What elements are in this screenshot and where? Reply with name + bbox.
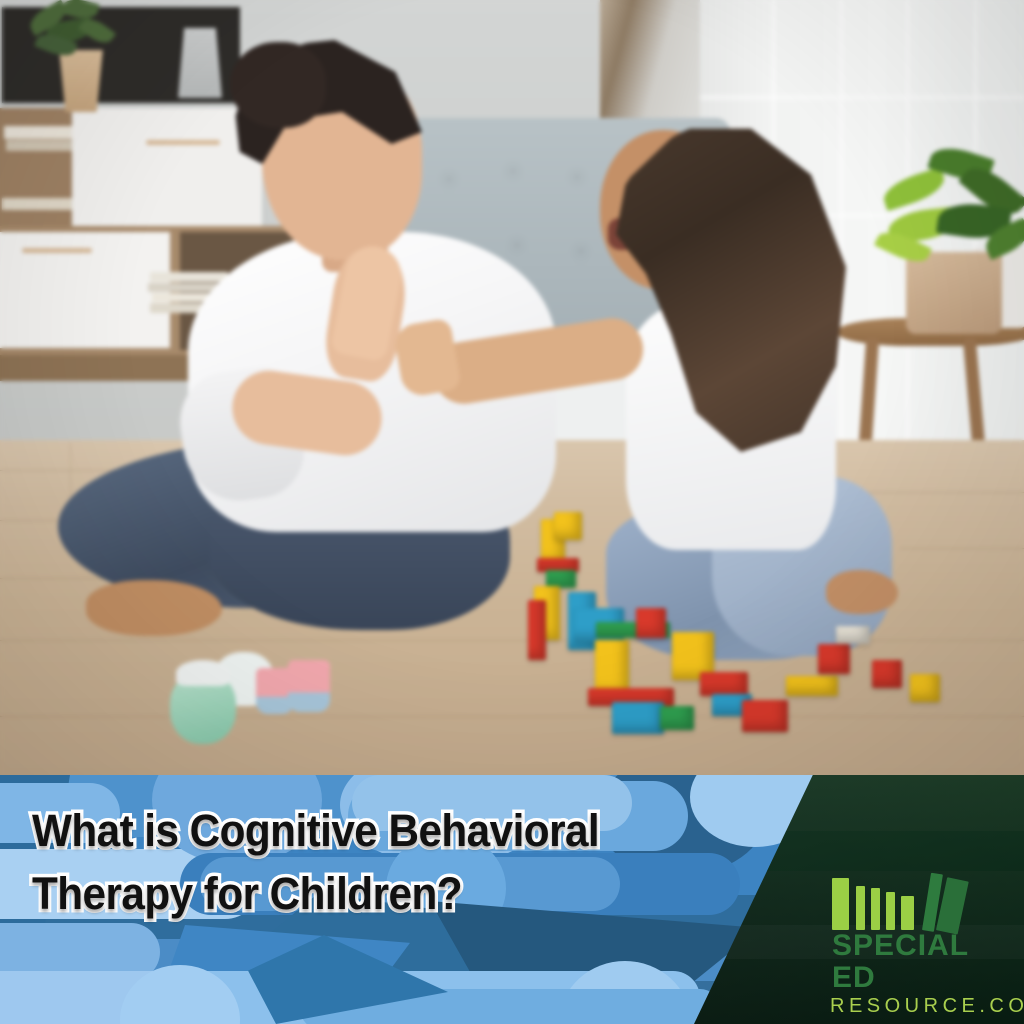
toy-block <box>872 660 902 688</box>
decorative-vase <box>178 28 222 98</box>
shelf-handle <box>22 248 92 253</box>
toy-block <box>528 600 546 660</box>
toy-block <box>700 672 748 696</box>
toy-block <box>786 676 838 696</box>
plant-pot-kraft <box>906 252 1002 334</box>
hero-photo <box>0 0 1024 780</box>
toy-block <box>836 626 870 644</box>
book-spine-icon <box>871 888 880 930</box>
window-mullion <box>840 0 843 500</box>
site-logo[interactable]: SPECIAL ED RESOURCE.COM <box>796 866 1010 1018</box>
toy-block <box>910 674 940 702</box>
toy-block <box>636 608 666 638</box>
toy-block <box>742 700 788 732</box>
shelf-handle <box>146 140 220 145</box>
toy-block <box>660 706 694 730</box>
woman-foot <box>86 580 222 636</box>
book-spine-icon <box>886 892 895 930</box>
books-stack <box>2 198 72 210</box>
woman-hair-bun <box>230 42 326 128</box>
window-mullion <box>700 96 1024 99</box>
toy-teapot-lid <box>176 660 230 686</box>
book-spine-icon <box>856 886 865 930</box>
girl-foot <box>826 570 898 614</box>
toy-cup-2 <box>288 660 330 712</box>
magazine-stack <box>150 272 228 282</box>
toy-block <box>818 644 850 674</box>
shelf-door <box>72 108 262 230</box>
book-spine-icon <box>901 896 914 930</box>
page-title: What is Cognitive Behavioral Therapy for… <box>32 799 690 925</box>
article-header-graphic: What is Cognitive Behavioral Therapy for… <box>0 0 1024 1024</box>
toy-block <box>612 702 664 734</box>
brand-name-primary: SPECIAL ED <box>832 930 1010 994</box>
book-spine-icon <box>832 878 849 930</box>
books-on-shelf-icon <box>832 866 1002 930</box>
toy-block <box>554 512 582 540</box>
brand-name-domain: RESOURCE.COM <box>830 994 1010 1018</box>
title-banner: What is Cognitive Behavioral Therapy for… <box>0 775 1024 1024</box>
